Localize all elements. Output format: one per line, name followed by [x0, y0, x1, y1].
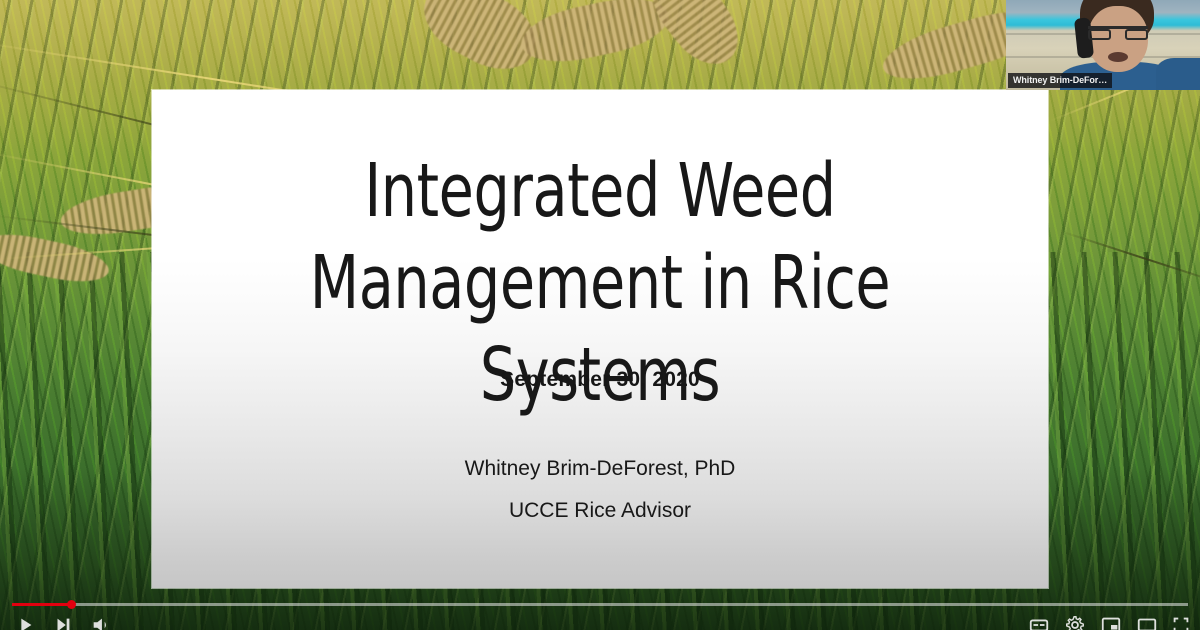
- theater-mode-button[interactable]: [1136, 614, 1158, 630]
- speaker-shoulder: [1156, 58, 1200, 90]
- play-icon: [14, 614, 36, 630]
- gear-icon: [1064, 614, 1086, 630]
- fullscreen-icon: [1170, 614, 1192, 630]
- miniplayer-icon: [1100, 614, 1122, 630]
- miniplayer-button[interactable]: [1100, 614, 1122, 630]
- next-icon: [52, 614, 74, 630]
- volume-icon: [90, 614, 112, 630]
- progress-bar-fill: [12, 603, 71, 606]
- volume-button[interactable]: [90, 614, 112, 630]
- fullscreen-button[interactable]: [1170, 614, 1192, 630]
- video-player-viewport: Integrated Weed Management in Rice Syste…: [0, 0, 1200, 630]
- settings-button[interactable]: [1064, 614, 1086, 630]
- slide-author-name: Whitney Brim-DeForest, PhD: [152, 448, 1048, 490]
- theater-icon: [1136, 614, 1158, 630]
- slide-author-role: UCCE Rice Advisor: [152, 490, 1048, 532]
- closed-captions-icon: [1028, 614, 1050, 630]
- progress-bar-handle[interactable]: [67, 600, 76, 609]
- video-player-controls: [0, 600, 1200, 630]
- eyeglasses-icon: [1088, 26, 1148, 37]
- captions-button[interactable]: [1028, 614, 1050, 630]
- speaker-mouth: [1108, 52, 1128, 62]
- play-pause-button[interactable]: [14, 614, 36, 630]
- presentation-slide: Integrated Weed Management in Rice Syste…: [152, 90, 1048, 588]
- next-video-button[interactable]: [52, 614, 74, 630]
- slide-date: September 30, 2020: [152, 368, 1048, 392]
- speaker-webcam-overlay[interactable]: Whitney Brim-DeFor…: [1006, 0, 1200, 90]
- progress-bar-track[interactable]: [12, 603, 1188, 606]
- participant-name-label: Whitney Brim-DeFor…: [1008, 73, 1112, 88]
- slide-author-block: Whitney Brim-DeForest, PhD UCCE Rice Adv…: [152, 448, 1048, 532]
